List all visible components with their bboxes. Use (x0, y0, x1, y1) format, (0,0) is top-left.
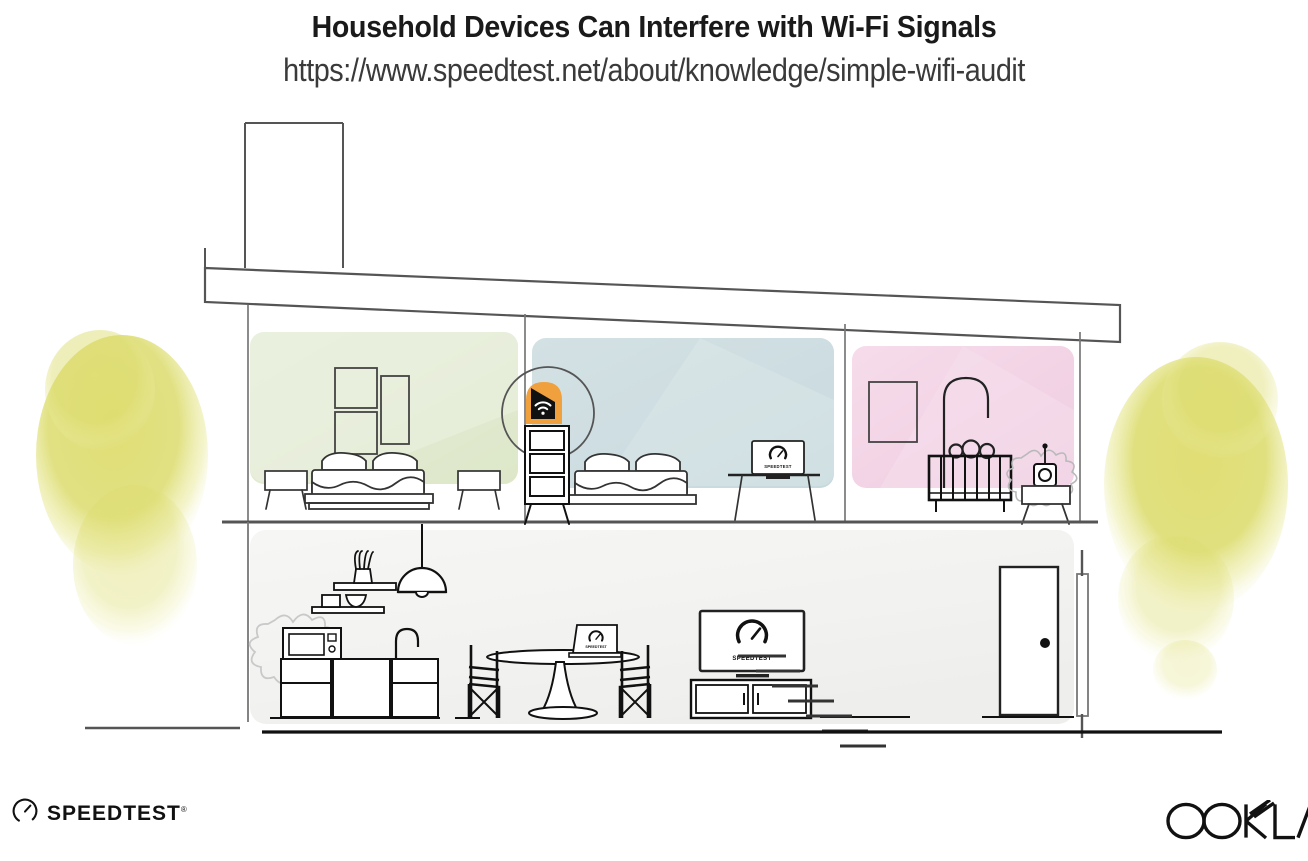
right-exterior-wall (1077, 550, 1088, 738)
tree-left (36, 330, 208, 645)
room-nursery-pink (852, 346, 1077, 524)
front-door (1000, 567, 1058, 715)
page-title: Household Devices Can Interfere with Wi-… (52, 10, 1255, 44)
house-illustration: SPEEDTEST (0, 110, 1308, 750)
speedometer-icon (12, 798, 38, 829)
poster-page: Household Devices Can Interfere with Wi-… (0, 0, 1308, 861)
registered-mark: ® (181, 805, 187, 814)
speedtest-wordmark: SPEEDTEST® (47, 802, 187, 826)
chimney (245, 123, 343, 268)
room-bedroom-green (250, 332, 518, 509)
wifi-router[interactable] (526, 382, 562, 424)
desk-monitor-screen-label: SPEEDTEST (764, 464, 792, 469)
source-url: https://www.speedtest.net/about/knowledg… (65, 52, 1242, 88)
speedtest-wordmark-text: SPEEDTEST (47, 802, 181, 825)
nightstand-left-green (265, 471, 307, 509)
laptop: SPEEDTEST (569, 625, 621, 657)
door-knob (1040, 638, 1050, 648)
laptop-screen-label: SPEEDTEST (585, 645, 607, 649)
footer: SPEEDTEST® (0, 780, 1308, 861)
tree-right (1104, 342, 1288, 700)
ookla-logo (1162, 800, 1308, 847)
nightstand-right-green (458, 471, 500, 509)
desk-monitor: SPEEDTEST (752, 441, 804, 479)
shelf-unit-router (525, 426, 569, 524)
living-room-tv: SPEEDTEST (700, 611, 804, 677)
speedtest-logo: SPEEDTEST® (12, 798, 187, 829)
room-bedroom-blue: SPEEDTEST (532, 338, 834, 520)
roof (205, 268, 1120, 342)
microwave (283, 628, 341, 660)
header: Household Devices Can Interfere with Wi-… (0, 0, 1308, 88)
